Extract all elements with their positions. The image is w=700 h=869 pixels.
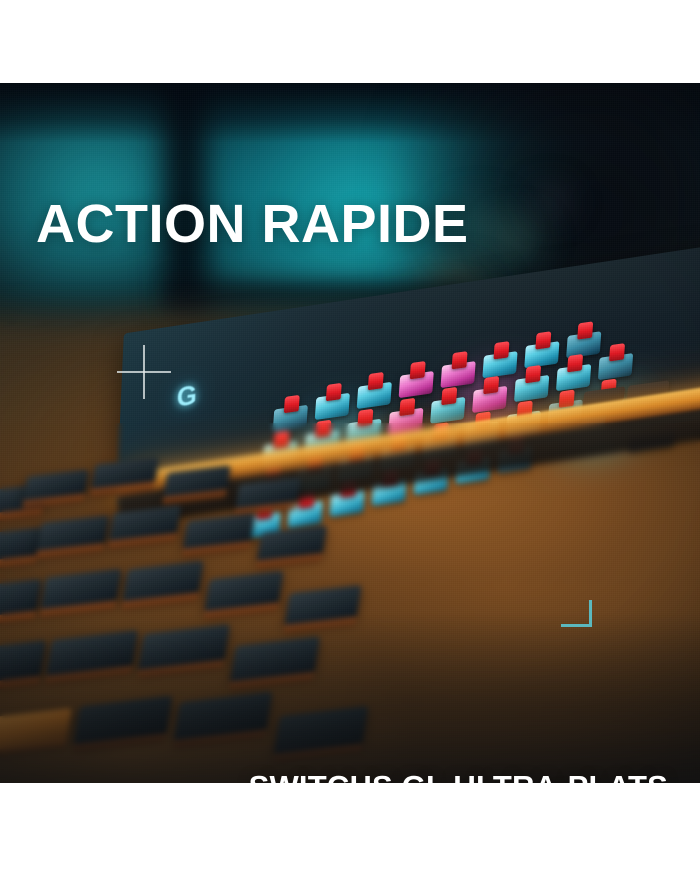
corner-bracket-icon	[561, 600, 592, 627]
corner-bracket-vertical-arm	[589, 600, 592, 627]
promo-canvas: G	[0, 0, 700, 869]
removed-keycap	[37, 515, 110, 553]
crosshair-icon	[117, 345, 171, 399]
corner-bracket-horizontal-arm	[561, 624, 592, 627]
removed-keycap-amber	[0, 708, 72, 752]
removed-keycap	[235, 477, 301, 510]
crosshair-vertical-arm	[143, 345, 145, 399]
removed-keycap	[74, 696, 173, 747]
product-photo-banner: G	[0, 83, 700, 783]
removed-keycap	[138, 624, 230, 672]
removed-keycap	[0, 527, 41, 565]
page-title: ACTION RAPIDE	[36, 197, 469, 252]
removed-keycap	[46, 630, 138, 678]
removed-keycap	[230, 636, 320, 684]
removed-keycap	[40, 569, 122, 612]
removed-keycap	[122, 561, 204, 604]
removed-keycap	[274, 706, 369, 756]
tagline-line-1: SWITCHS GL ULTRA-PLATS	[167, 770, 668, 783]
removed-keycap	[183, 513, 256, 551]
removed-keycap	[91, 457, 159, 490]
removed-keycap	[174, 692, 273, 743]
removed-keycap	[23, 469, 89, 502]
removed-keycap	[257, 525, 328, 563]
tagline: SWITCHS GL ULTRA-PLATS POINT D’ACTIONNEM…	[167, 770, 668, 783]
removed-keycap	[0, 579, 42, 622]
removed-keycap	[109, 505, 182, 543]
removed-keycaps-group	[0, 83, 700, 783]
removed-keycap	[204, 571, 284, 614]
removed-keycap	[163, 465, 231, 498]
removed-keycap	[0, 640, 46, 688]
removed-keycap	[284, 585, 361, 627]
